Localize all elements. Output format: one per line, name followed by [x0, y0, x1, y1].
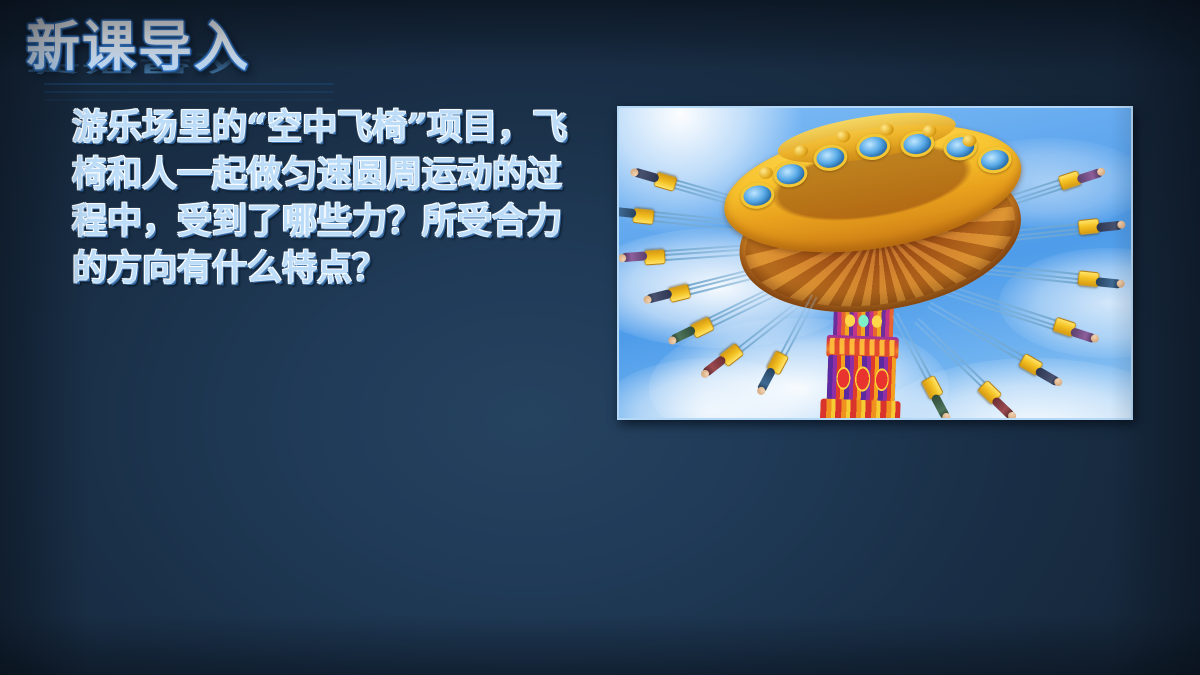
- body-paragraph: 游乐场里的“空中飞椅”项目，飞 椅和人一起做匀速圆周运动的过 程中，受到了哪些力…: [72, 104, 612, 292]
- body-line: 游乐场里的“空中飞椅”项目，飞: [72, 104, 612, 151]
- carousel-ride: [619, 108, 1131, 418]
- body-line: 的方向有什么特点？: [72, 245, 612, 292]
- tower-segment: [827, 355, 897, 403]
- body-line: 程中，受到了哪些力？所受合力: [72, 198, 612, 245]
- page-title: 新课导入: [26, 14, 250, 78]
- body-line: 椅和人一起做匀速圆周运动的过: [72, 151, 612, 198]
- swing-carousel-photo: [617, 106, 1133, 420]
- tower-segment: [820, 399, 901, 418]
- photo-inner: [619, 108, 1131, 418]
- carousel-canopy: [715, 108, 1043, 350]
- slide-canvas: 新课导入 新课导入 游乐场里的“空中飞椅”项目，飞 椅和人一起做匀速圆周运动的过…: [0, 0, 1200, 675]
- slide-title-block: 新课导入 新课导入: [26, 14, 446, 110]
